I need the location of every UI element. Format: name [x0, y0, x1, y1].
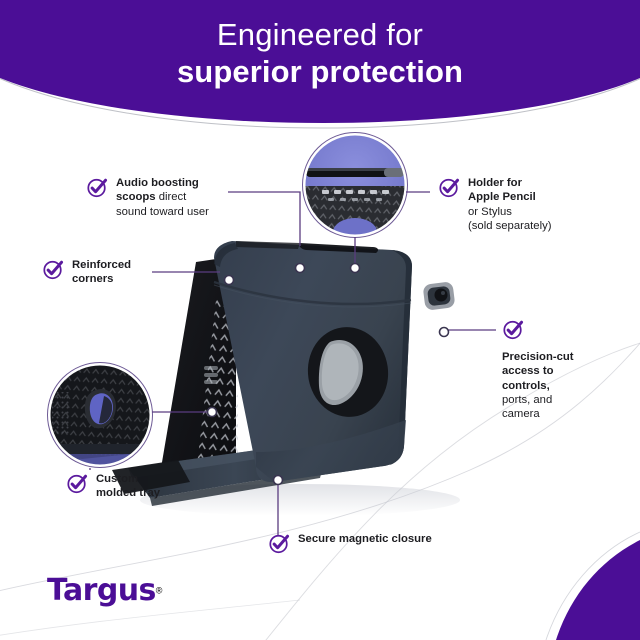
callout-reinforced-corners: Reinforced corners — [42, 258, 212, 287]
banner-line-1: Engineered for — [0, 18, 640, 53]
dot-magnetic — [274, 476, 283, 485]
callout-line: or Stylus — [468, 206, 512, 218]
callout-magnetic-text: Secure magnetic closure — [298, 532, 432, 546]
camera-cutout — [423, 281, 456, 310]
callout-tray-text: Custom molded tray — [96, 472, 160, 501]
callout-precision-cut-access: Precision-cut access to controls, ports,… — [502, 318, 632, 422]
callout-line: scoops — [116, 191, 156, 203]
callout-line: controls, — [502, 380, 550, 392]
callout-holder-text: Holder for Apple Pencil or Stylus (sold … — [468, 176, 552, 233]
callout-line: Custom — [96, 473, 138, 485]
callout-audio-boosting-scoops: Audio boosting scoops direct sound towar… — [86, 176, 301, 219]
dot-audio — [296, 264, 305, 273]
callout-secure-magnetic-closure: Secure magnetic closure — [268, 532, 498, 555]
check-circle-icon — [502, 318, 525, 341]
callout-audio-text: Audio boosting scoops direct sound towar… — [116, 176, 209, 219]
callout-line: Precision-cut — [502, 351, 574, 363]
callout-custom-molded-tray: Custom molded tray — [66, 472, 241, 501]
targus-logo: Targus® — [47, 573, 162, 608]
dot-precision — [440, 328, 449, 337]
dot-reinforced — [225, 276, 234, 285]
callout-line: corners — [72, 273, 113, 285]
callout-line: direct — [156, 191, 187, 203]
callout-apple-pencil-holder: Holder for Apple Pencil or Stylus (sold … — [438, 176, 623, 233]
callout-line: access to — [502, 365, 554, 377]
callout-line: (sold separately) — [468, 220, 552, 232]
callout-line: Apple Pencil — [468, 191, 536, 203]
logo-wordmark: Targus — [47, 573, 156, 608]
callout-line: Secure magnetic closure — [298, 533, 432, 545]
check-circle-icon — [86, 176, 109, 199]
callout-reinforced-text: Reinforced corners — [72, 258, 131, 287]
logo-trademark-symbol: ® — [156, 586, 163, 596]
callout-line: camera — [502, 408, 540, 420]
callout-line: Reinforced — [72, 259, 131, 271]
callout-line: molded tray — [96, 487, 160, 499]
callout-line: sound toward user — [116, 206, 209, 218]
check-circle-icon — [268, 532, 291, 555]
check-circle-icon — [66, 472, 89, 495]
check-circle-icon — [42, 258, 65, 281]
callout-line: Audio boosting — [116, 177, 199, 189]
check-circle-icon — [438, 176, 461, 199]
banner-text-block: Engineered for superior protection — [0, 18, 640, 89]
callout-line: ports, and — [502, 394, 552, 406]
callout-precision-text: Precision-cut access to controls, ports,… — [502, 350, 632, 422]
side-port-marks — [204, 366, 218, 384]
infographic-canvas: Engineered for superior protection Audio… — [0, 0, 640, 640]
dot-pencil — [351, 264, 360, 273]
banner-line-2: superior protection — [0, 55, 640, 90]
callout-line: Holder for — [468, 177, 522, 189]
dot-tray — [208, 408, 217, 417]
